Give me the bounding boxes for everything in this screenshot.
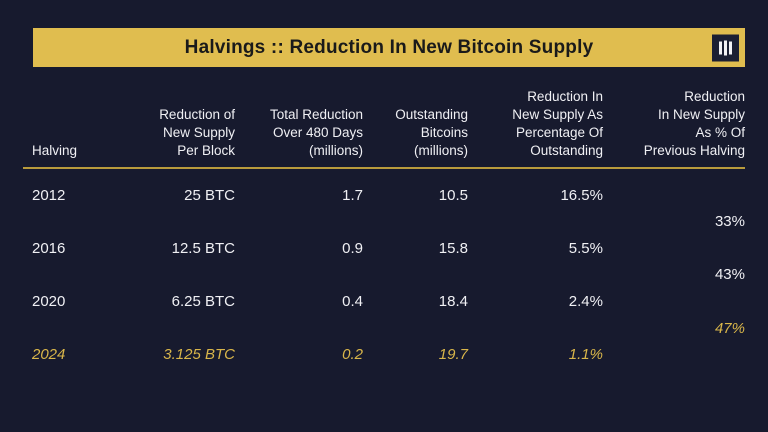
cell-outstanding-bitcoins: 18.4 xyxy=(363,275,468,328)
cell-reduction-pct-outstanding: 1.1% xyxy=(468,328,603,381)
halvings-table: Halving Reduction of New Supply Per Bloc… xyxy=(23,88,745,167)
column-header-reduction-pct-previous: Reduction In New Supply As % Of Previous… xyxy=(603,88,745,167)
cell-reduction-pct-outstanding: 2.4% xyxy=(468,275,603,328)
column-header-halving: Halving xyxy=(23,88,115,167)
cell-reduction-pct-previous-value: 47% xyxy=(603,320,745,337)
cell-reduction-per-block: 6.25 BTC xyxy=(115,275,235,328)
header-banner: Halvings :: Reduction In New Bitcoin Sup… xyxy=(33,28,745,67)
cell-total-reduction: 0.4 xyxy=(235,275,363,328)
table-row: 2012 25 BTC 1.7 10.5 16.5% 33% xyxy=(23,169,745,222)
column-header-reduction-pct-outstanding: Reduction In New Supply As Percentage Of… xyxy=(468,88,603,167)
cell-outstanding-bitcoins: 19.7 xyxy=(363,328,468,381)
cell-halving: 2020 xyxy=(23,275,115,328)
cell-halving: 2024 xyxy=(23,328,115,381)
cell-halving: 2016 xyxy=(23,222,115,275)
cell-reduction-pct-previous: 47% xyxy=(603,328,745,381)
halvings-table-body: 2012 25 BTC 1.7 10.5 16.5% 33% 2016 12.5… xyxy=(23,169,745,381)
cell-reduction-per-block: 25 BTC xyxy=(115,169,235,222)
cell-reduction-pct-previous-value: 33% xyxy=(603,213,745,230)
three-bars-logo-icon xyxy=(712,34,739,61)
cell-total-reduction: 1.7 xyxy=(235,169,363,222)
logo-bar-middle xyxy=(724,40,727,55)
table-header-row: Halving Reduction of New Supply Per Bloc… xyxy=(23,88,745,167)
halvings-table-container: Halving Reduction of New Supply Per Bloc… xyxy=(23,88,745,381)
logo-bar-left xyxy=(719,41,722,54)
cell-reduction-per-block: 12.5 BTC xyxy=(115,222,235,275)
column-header-total-reduction: Total Reduction Over 480 Days (millions) xyxy=(235,88,363,167)
cell-total-reduction: 0.2 xyxy=(235,328,363,381)
page-title: Halvings :: Reduction In New Bitcoin Sup… xyxy=(185,37,594,59)
cell-reduction-pct-previous-value: 43% xyxy=(603,266,745,283)
column-header-reduction-per-block: Reduction of New Supply Per Block xyxy=(115,88,235,167)
column-header-outstanding-bitcoins: Outstanding Bitcoins (millions) xyxy=(363,88,468,167)
table-row-projected: 2024 3.125 BTC 0.2 19.7 1.1% 47% xyxy=(23,328,745,381)
logo-bar-right xyxy=(729,41,732,54)
cell-reduction-per-block: 3.125 BTC xyxy=(115,328,235,381)
cell-reduction-pct-outstanding: 5.5% xyxy=(468,222,603,275)
cell-halving: 2012 xyxy=(23,169,115,222)
cell-outstanding-bitcoins: 15.8 xyxy=(363,222,468,275)
cell-total-reduction: 0.9 xyxy=(235,222,363,275)
cell-outstanding-bitcoins: 10.5 xyxy=(363,169,468,222)
cell-reduction-pct-previous: 33% xyxy=(603,169,745,222)
cell-reduction-pct-outstanding: 16.5% xyxy=(468,169,603,222)
